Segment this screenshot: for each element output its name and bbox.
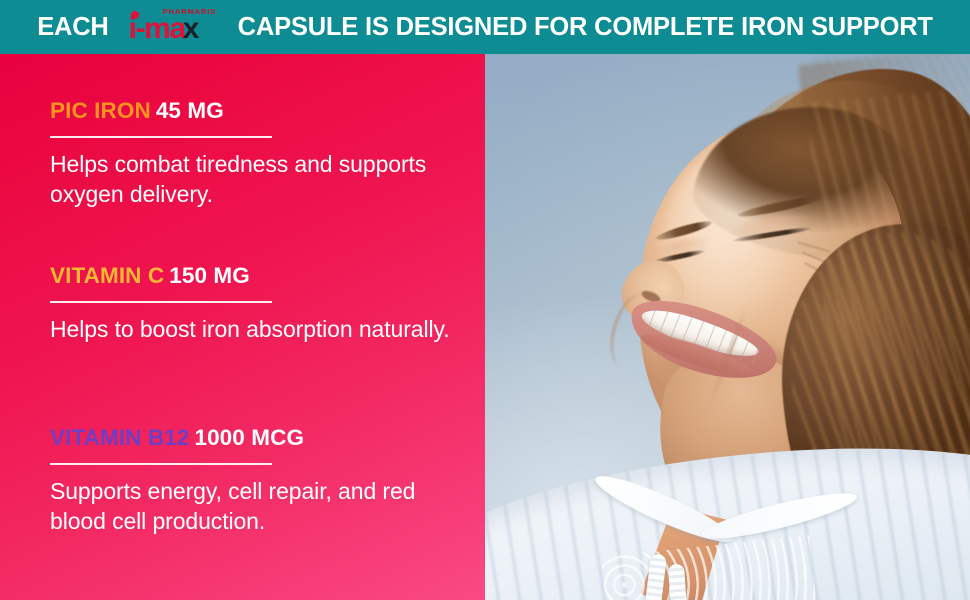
ingredient-dose: 1000 MCG	[194, 425, 304, 450]
logo-dot-icon	[131, 11, 139, 19]
ingredient-description: Supports energy, cell repair, and red bl…	[50, 476, 450, 537]
lifestyle-photo	[485, 54, 970, 600]
ingredient-divider	[50, 301, 272, 303]
ingredient-item-pic-iron: PIC IRON45 MG Helps combat tiredness and…	[50, 100, 455, 210]
ingredient-description: Helps to boost iron absorption naturally…	[50, 314, 450, 345]
ingredient-name: VITAMIN C	[50, 263, 164, 288]
ingredient-item-vitamin-c: VITAMIN C150 MG Helps to boost iron abso…	[50, 265, 455, 344]
imax-logo: PHARMARIS i-max	[125, 2, 220, 52]
header-text-before-logo: EACH	[37, 15, 108, 41]
ingredient-name: VITAMIN B12	[50, 425, 189, 450]
ingredient-heading: VITAMIN B121000 MCG	[50, 427, 455, 450]
header-banner: EACH PHARMARIS i-max CAPSULE IS DESIGNED…	[0, 0, 970, 54]
ingredient-dose: 45 MG	[156, 98, 224, 123]
ingredient-heading: VITAMIN C150 MG	[50, 265, 455, 288]
ingredient-divider	[50, 463, 272, 465]
hair-flyaway-strands	[815, 54, 970, 170]
ingredient-heading: PIC IRON45 MG	[50, 100, 455, 123]
infographic-canvas: EACH PHARMARIS i-max CAPSULE IS DESIGNED…	[0, 0, 970, 600]
logo-wordmark-secondary: x	[183, 12, 198, 45]
ingredient-panel: PIC IRON45 MG Helps combat tiredness and…	[0, 54, 485, 600]
logo-wordmark: i-max	[129, 14, 198, 44]
header-text-after-logo: CAPSULE IS DESIGNED FOR COMPLETE IRON SU…	[238, 15, 933, 41]
ingredient-item-vitamin-b12: VITAMIN B121000 MCG Supports energy, cel…	[50, 427, 455, 537]
ingredient-divider	[50, 136, 272, 138]
ingredient-description: Helps combat tiredness and supports oxyg…	[50, 149, 450, 210]
ingredient-dose: 150 MG	[169, 263, 250, 288]
ingredient-name: PIC IRON	[50, 98, 151, 123]
